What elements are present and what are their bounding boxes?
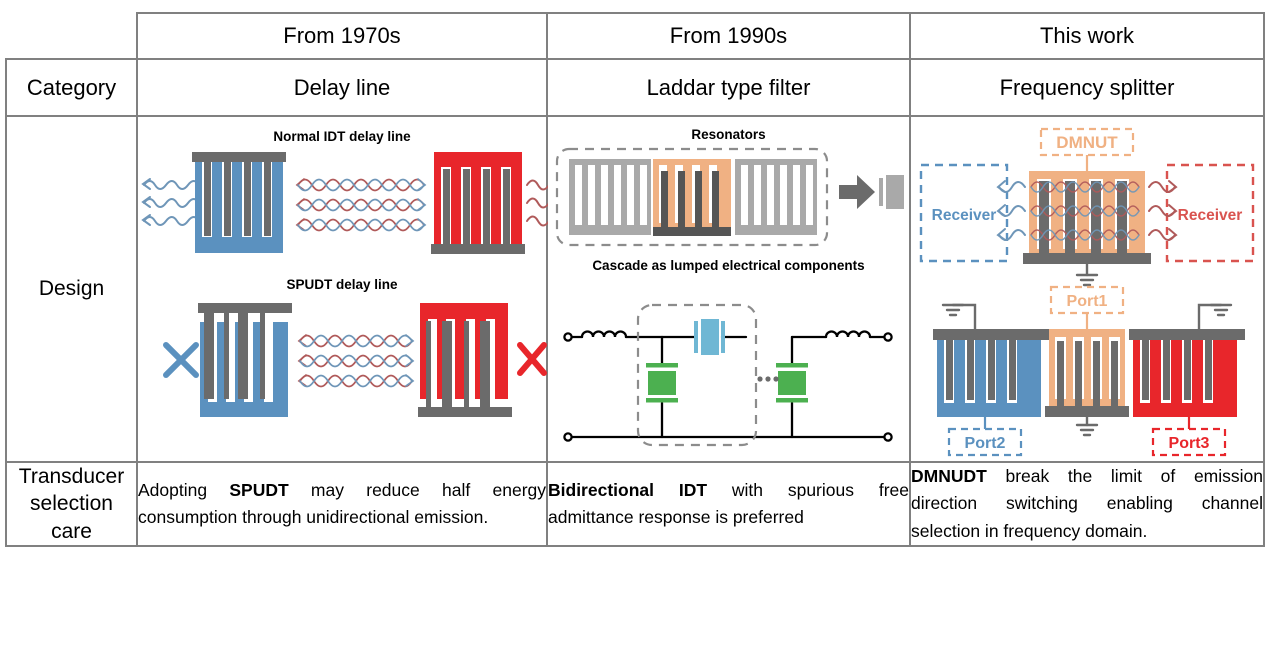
- figure-page: From 1970s From 1990s This work Category…: [0, 0, 1269, 662]
- dmnut-splitter-diagram: DMNUT Receiver Receiver: [913, 125, 1261, 290]
- normal-idt-delay-line-diagram: [138, 147, 546, 277]
- receiver-right-text: Receiver: [1178, 207, 1243, 224]
- row-label-design: Design: [6, 116, 137, 462]
- normal-idt-delay-line-title: Normal IDT delay line: [138, 129, 546, 144]
- table-transducer-row: Transducer selection care Adopting SPUDT…: [6, 462, 1264, 546]
- resonator-bank-diagram: [553, 145, 903, 255]
- wave-to-left-receiver: [998, 181, 1025, 240]
- ground-symbol-bottom: [1077, 417, 1097, 435]
- spudt-delay-line-diagram: [138, 297, 546, 437]
- idt-blue-normal: [192, 152, 286, 253]
- design-cell-laddar-filter: Resonators: [547, 116, 910, 462]
- port1-label-text: Port1: [1067, 293, 1108, 310]
- port3-label-text: Port3: [1169, 435, 1210, 452]
- note-cell-bidirectional-idt: Bidirectional IDT with spurious free adm…: [547, 462, 910, 546]
- category-frequency-splitter: Frequency splitter: [910, 59, 1264, 116]
- receiver-left-text: Receiver: [932, 207, 997, 224]
- category-laddar-type-filter: Laddar type filter: [547, 59, 910, 116]
- series-resonator-symbol: [694, 319, 725, 355]
- table-header-row: From 1970s From 1990s This work: [6, 13, 1264, 59]
- port2-label-text: Port2: [965, 435, 1006, 452]
- resonator-middle: [653, 159, 731, 236]
- idt-red-spudt: [418, 303, 512, 417]
- blue-cross-icon: [166, 345, 196, 375]
- idt-port2-blue: [933, 329, 1049, 417]
- row-label-transducer-text: Transducer selection care: [19, 465, 124, 543]
- lumped-circuit-diagram: [560, 299, 896, 449]
- idt-port3-red: [1129, 329, 1245, 417]
- three-port-splitter-diagram: Port1: [913, 285, 1261, 457]
- resonator-left: [569, 159, 651, 235]
- note-1-bold: SPUDT: [229, 480, 288, 500]
- idt-port1-orange: [1045, 329, 1129, 417]
- note-3-bold: DMNUDT: [911, 466, 987, 486]
- row-label-category: Category: [6, 59, 137, 116]
- idt-red-normal: [431, 152, 525, 254]
- design-cell-delay-line: Normal IDT delay line: [137, 116, 547, 462]
- comparison-table: From 1970s From 1990s This work Category…: [5, 12, 1265, 547]
- row-label-transducer-selection-care: Transducer selection care: [6, 462, 137, 546]
- table-category-row: Category Delay line Laddar type filter F…: [6, 59, 1264, 116]
- bidirectional-wave-field: [297, 179, 425, 231]
- design-cell-frequency-splitter: DMNUT Receiver Receiver: [910, 116, 1264, 462]
- ground-symbol-right: [1199, 305, 1231, 329]
- cascade-ellipsis: [757, 376, 778, 381]
- ground-symbol-left: [943, 305, 975, 329]
- note-cell-dmnudt: DMNUDT break the limit of emission direc…: [910, 462, 1264, 546]
- shunt-resonator-symbol-2: [776, 363, 808, 403]
- note-2-bold: Bidirectional IDT: [548, 480, 707, 500]
- cascade-lumped-title: Cascade as lumped electrical components: [570, 257, 887, 275]
- spudt-wave-field: [299, 335, 413, 387]
- arrow-right-icon: [839, 175, 875, 209]
- note-cell-spudt: Adopting SPUDT may reduce half energy co…: [137, 462, 547, 546]
- dmnut-label-text: DMNUT: [1056, 133, 1118, 152]
- idt-blue-spudt: [198, 303, 292, 417]
- category-delay-line: Delay line: [137, 59, 547, 116]
- resonator-right: [735, 159, 817, 235]
- header-corner-blank: [6, 13, 137, 59]
- shunt-resonator-symbol-1: [646, 363, 678, 403]
- spudt-delay-line-title: SPUDT delay line: [138, 277, 546, 292]
- header-from-1970s: From 1970s: [137, 13, 547, 59]
- note-1-lead: Adopting: [138, 480, 229, 500]
- lumped-chip-icon: [879, 175, 904, 209]
- header-from-1990s: From 1990s: [547, 13, 910, 59]
- table-design-row: Design Normal IDT delay line: [6, 116, 1264, 462]
- ground-symbol-top: [1077, 264, 1097, 285]
- wave-to-right-receiver: [1149, 181, 1176, 240]
- header-this-work: This work: [910, 13, 1264, 59]
- red-cross-icon: [520, 345, 544, 373]
- resonators-title: Resonators: [548, 127, 909, 142]
